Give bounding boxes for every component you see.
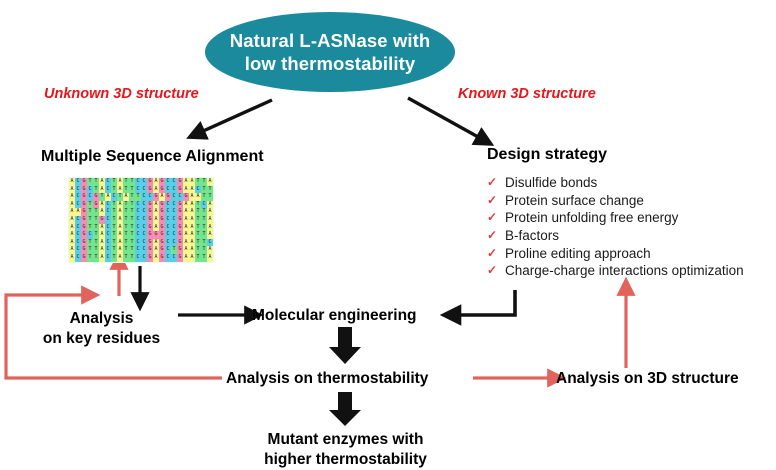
strategy-item[interactable]: ✓Protein surface change (487, 194, 772, 208)
multiple-sequence-alignment-image: ACGTTACTATTCCGAGCCGAATTAACGCTACTATTCCGAG… (68, 177, 214, 263)
alignment-cell: T (207, 186, 213, 194)
strategy-item-label: Protein unfolding free energy (505, 211, 678, 225)
alignment-row: ACGTTACTATTCCGAGCTGAATTA (69, 246, 213, 254)
arrow-ellipse-to-msa (201, 100, 272, 132)
alignment-row: ACGTTACTATTCCGAGCCGAATTC (69, 239, 213, 247)
alignment-row: ACGTTGCTATTCCGAGCCGAATTA (69, 216, 213, 224)
arrow-ellipse-to-design (408, 98, 480, 138)
alignment-row: ACGCGTACTATTCCGAGCCGAATT (69, 193, 213, 201)
check-mark-icon: ✓ (487, 194, 505, 207)
alignment-cell: A (207, 224, 213, 232)
block-arrow-thermostability-to-outcome (329, 392, 361, 426)
strategy-item-label: Proline editing approach (505, 247, 651, 261)
alignment-row: AAGTTACTATTCCGAGCCGAATTA (69, 208, 213, 216)
diagram-canvas: Natural L-ASNase with low thermostabilit… (0, 0, 776, 470)
root-node-natural-l-asnase[interactable]: Natural L-ASNase with low thermostabilit… (205, 12, 455, 92)
check-mark-icon: ✓ (487, 211, 505, 224)
strategy-item[interactable]: ✓Charge-charge interactions optimization (487, 264, 772, 278)
alignment-row: ACGTTACTATTCCGAGCCGAATTA (69, 178, 213, 186)
analysis-key-residues-line2: on key residues (43, 330, 160, 347)
alignment-cell: A (207, 231, 213, 239)
alignment-cell: A (207, 178, 213, 186)
alignment-row: ACGTTACTATTCCGAGCCGAATTA (69, 224, 213, 232)
branch-label-known-3d-structure: Known 3D structure (458, 86, 596, 102)
outcome-line1: Mutant enzymes with (268, 431, 424, 448)
check-mark-icon: ✓ (487, 176, 505, 189)
root-node-line2: low thermostability (245, 53, 415, 74)
alignment-cell: C (207, 239, 213, 247)
strategy-item[interactable]: ✓Protein unfolding free energy (487, 211, 772, 225)
check-mark-icon: ✓ (487, 247, 505, 260)
strategy-item-label: Protein surface change (505, 194, 644, 208)
strategy-item[interactable]: ✓Proline editing approach (487, 247, 772, 261)
alignment-cell: A (207, 254, 213, 262)
strategy-item[interactable]: ✓B-factors (487, 229, 772, 243)
analysis-key-residues-line1: Analysis (70, 310, 134, 327)
arrow-design-to-molecular-engineering (457, 290, 515, 315)
strategy-item-label: Disulfide bonds (505, 176, 597, 190)
root-node-line1: Natural L-ASNase with (230, 30, 431, 51)
alignment-row: ACGTGACTATTCCGAGCCGAATCA (69, 201, 213, 209)
check-mark-icon: ✓ (487, 264, 505, 277)
node-analysis-on-thermostability[interactable]: Analysis on thermostability (226, 369, 428, 389)
alignment-cell: A (207, 216, 213, 224)
alignment-row: ACGCTACTATTCCGGGCCGAATTA (69, 231, 213, 239)
strategy-item[interactable]: ✓Disulfide bonds (487, 176, 772, 190)
heading-multiple-sequence-alignment: Multiple Sequence Alignment (41, 148, 264, 166)
alignment-cell: T (207, 193, 213, 201)
node-molecular-engineering[interactable]: Molecular engineering (252, 306, 417, 326)
node-analysis-on-key-residues[interactable]: Analysis on key residues (24, 309, 179, 349)
node-mutant-enzymes-outcome[interactable]: Mutant enzymes with higher thermostabili… (238, 430, 453, 470)
alignment-cell: A (207, 246, 213, 254)
strategy-item-label: B-factors (505, 229, 559, 243)
heading-design-strategy: Design strategy (487, 146, 607, 164)
alignment-cell: A (207, 201, 213, 209)
alignment-row: ACGCTACTATTCCGAGCCGAACTT (69, 186, 213, 194)
outcome-line2: higher thermostability (264, 451, 427, 468)
alignment-cell: A (207, 208, 213, 216)
design-strategy-list: ✓Disulfide bonds✓Protein surface change✓… (487, 176, 772, 282)
alignment-row: ACGTTACTATTCCGAGCCGAATTA (69, 254, 213, 262)
node-analysis-on-3d-structure[interactable]: Analysis on 3D structure (556, 369, 739, 389)
block-arrow-engineering-to-thermostability (329, 327, 361, 364)
check-mark-icon: ✓ (487, 229, 505, 242)
branch-label-unknown-3d-structure: Unknown 3D structure (44, 86, 199, 102)
strategy-item-label: Charge-charge interactions optimization (505, 264, 744, 278)
